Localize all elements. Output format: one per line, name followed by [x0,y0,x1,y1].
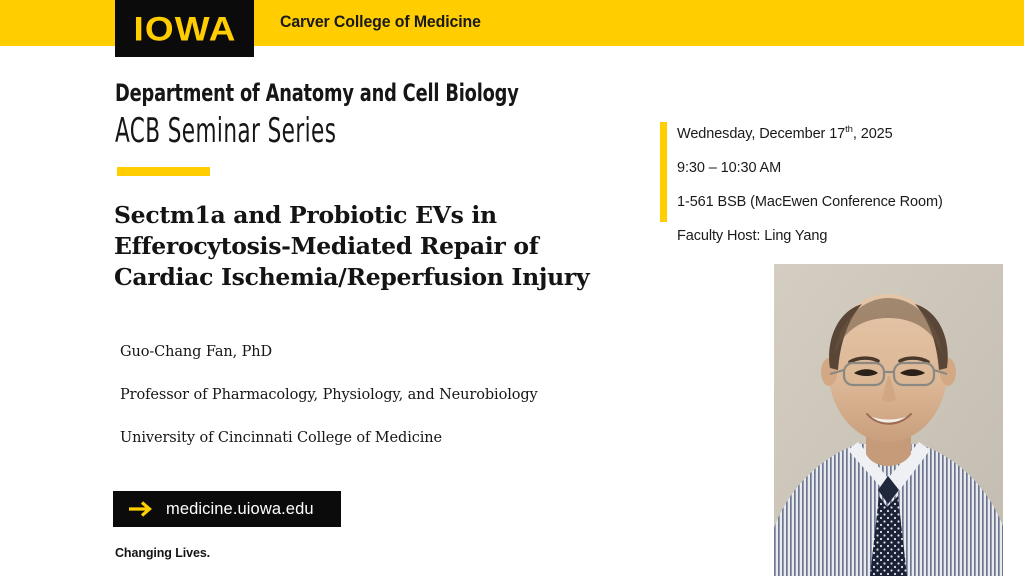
talk-title: Sectm1a and Probiotic EVs in Efferocytos… [114,200,634,293]
website-url-label: medicine.uiowa.edu [166,500,314,519]
arrow-right-icon [128,500,154,518]
event-time: 9:30 – 10:30 AM [677,160,1017,176]
event-location: 1-561 BSB (MacEwen Conference Room) [677,194,1017,210]
department-name: Department of Anatomy and Cell Biology [115,80,519,108]
event-details: Wednesday, December 17th, 2025 9:30 – 10… [677,126,1017,244]
speaker-block: Guo-Chang Fan, PhD Professor of Pharmaco… [120,344,660,446]
iowa-logo: IOWA [115,0,254,57]
event-date-year: , 2025 [853,126,893,142]
speaker-photo [774,264,1003,576]
college-name: Carver College of Medicine [280,13,481,32]
info-gold-rule [660,122,667,222]
seminar-series-name: ACB Seminar Series [115,112,336,151]
speaker-position: Professor of Pharmacology, Physiology, a… [120,387,660,403]
website-link-button[interactable]: medicine.uiowa.edu [113,491,341,527]
gold-accent-rule [117,167,210,176]
iowa-logo-text: IOWA [133,9,236,49]
event-date-ordinal: th [845,124,853,135]
tagline: Changing Lives. [115,546,210,560]
event-date-main: Wednesday, December 17 [677,126,845,142]
speaker-name: Guo-Chang Fan, PhD [120,344,660,360]
event-date: Wednesday, December 17th, 2025 [677,126,1017,142]
event-host: Faculty Host: Ling Yang [677,228,1017,244]
speaker-institution: University of Cincinnati College of Medi… [120,430,660,446]
